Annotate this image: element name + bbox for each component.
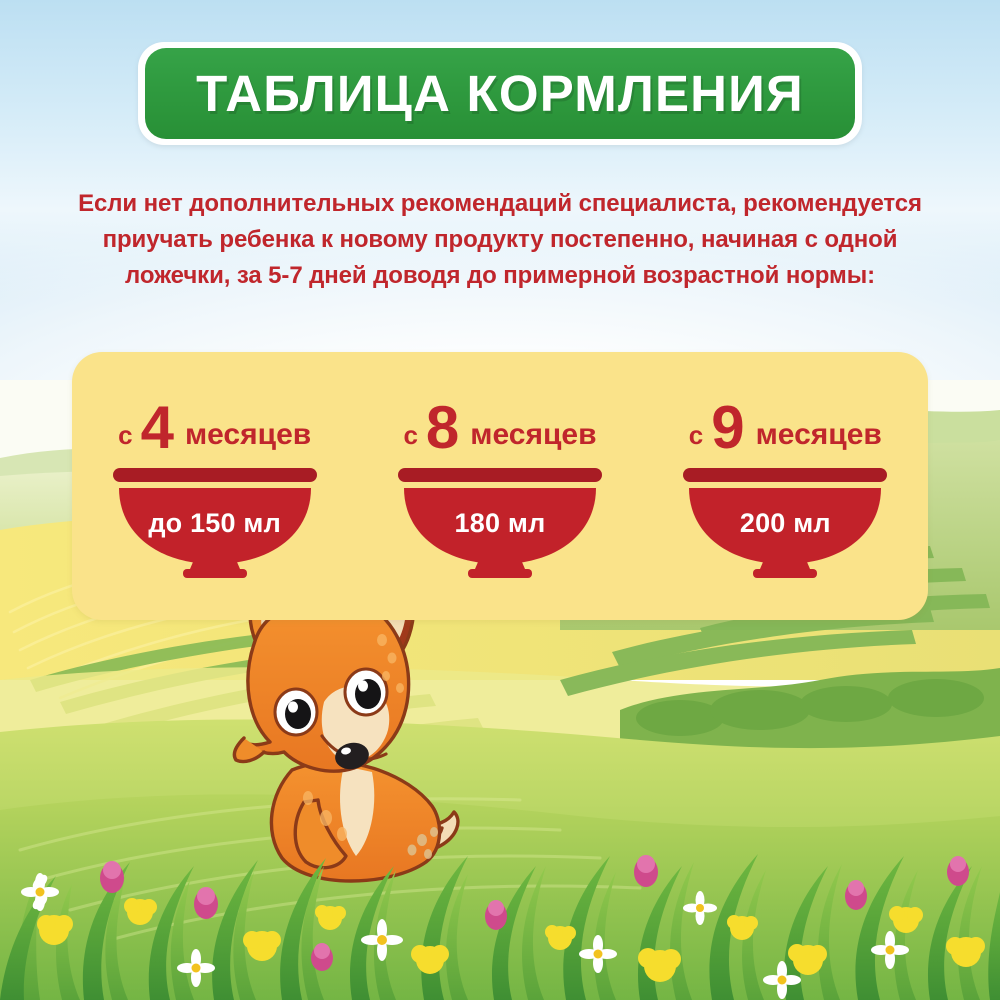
intro-line-2: приучать ребенка к новому продукту посте… xyxy=(70,222,930,258)
age-unit: месяцев xyxy=(185,420,311,450)
age-label: с 8 месяцев xyxy=(403,394,596,454)
feeding-column-9-months: с 9 месяцев 200 мл xyxy=(643,352,928,620)
grass-svg xyxy=(0,800,1000,1000)
page-title: ТАБЛИЦА КОРМЛЕНИЯ xyxy=(196,68,804,119)
feeding-table-card: с 4 месяцев до 150 мл с xyxy=(72,352,928,620)
bowl-graphic: 180 мл xyxy=(382,468,618,578)
age-label: с 9 месяцев xyxy=(689,394,882,454)
title-banner-inner: ТАБЛИЦА КОРМЛЕНИЯ xyxy=(145,48,855,139)
bowl-graphic: 200 мл xyxy=(667,468,903,578)
age-number: 8 xyxy=(426,398,459,458)
age-label: с 4 месяцев xyxy=(118,394,311,454)
grass-foreground xyxy=(0,800,1000,1000)
bowl-volume-label: 180 мл xyxy=(382,508,618,539)
feeding-columns: с 4 месяцев до 150 мл с xyxy=(72,352,928,620)
infographic-canvas: ТАБЛИЦА КОРМЛЕНИЯ Если нет дополнительны… xyxy=(0,0,1000,1000)
title-banner: ТАБЛИЦА КОРМЛЕНИЯ xyxy=(138,42,862,145)
age-unit: месяцев xyxy=(756,420,882,450)
age-prefix: с xyxy=(403,422,417,448)
intro-line-3: ложечки, за 5-7 дней доводя до примерной… xyxy=(70,258,930,294)
feeding-column-8-months: с 8 месяцев 180 мл xyxy=(357,352,642,620)
bowl-graphic: до 150 мл xyxy=(97,468,333,578)
age-prefix: с xyxy=(118,422,132,448)
intro-paragraph: Если нет дополнительных рекомендаций спе… xyxy=(70,186,930,294)
feeding-column-4-months: с 4 месяцев до 150 мл xyxy=(72,352,357,620)
intro-line-1: Если нет дополнительных рекомендаций спе… xyxy=(70,186,930,222)
bowl-volume-label: 200 мл xyxy=(667,508,903,539)
age-prefix: с xyxy=(689,422,703,448)
bowl-volume-label: до 150 мл xyxy=(97,508,333,539)
age-number: 4 xyxy=(141,398,174,458)
age-unit: месяцев xyxy=(470,420,596,450)
age-number: 9 xyxy=(711,398,744,458)
